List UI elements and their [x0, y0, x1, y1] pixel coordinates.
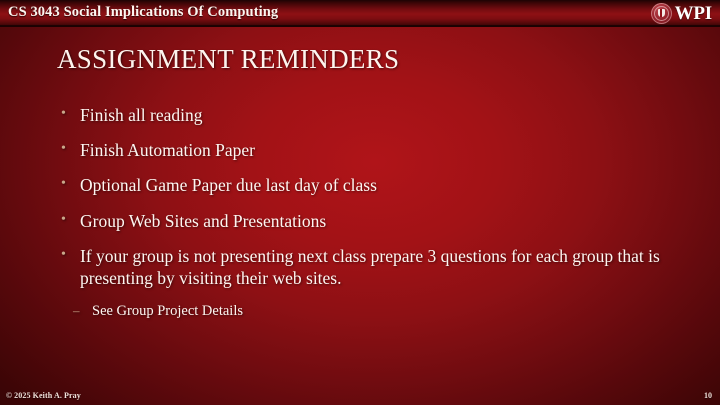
sub-list-item-label: See Group Project Details [92, 303, 243, 319]
dash-marker-icon: – [73, 302, 80, 320]
sub-list-item: – See Group Project Details [55, 302, 675, 320]
list-item: • Optional Game Paper due last day of cl… [55, 174, 675, 196]
bullet-marker-icon: • [61, 174, 66, 194]
list-item: • Finish all reading [55, 104, 675, 126]
list-item-label: Group Web Sites and Presentations [80, 211, 326, 231]
shield-icon [658, 9, 665, 17]
wpi-wordmark: WPI [675, 4, 712, 23]
bullet-marker-icon: • [61, 210, 66, 230]
page-title: ASSIGNMENT REMINDERS [57, 44, 399, 75]
list-item-label: Finish all reading [80, 105, 202, 125]
bullet-marker-icon: • [61, 104, 66, 124]
footer-copyright: © 2025 Keith A. Pray [6, 391, 81, 400]
list-item: • Group Web Sites and Presentations [55, 210, 675, 232]
wpi-seal-icon [651, 3, 672, 24]
presentation-slide: CS 3043 Social Implications Of Computing… [0, 0, 720, 405]
slide-header-bar: CS 3043 Social Implications Of Computing… [0, 0, 720, 27]
list-item-label: Optional Game Paper due last day of clas… [80, 175, 377, 195]
list-item: • Finish Automation Paper [55, 139, 675, 161]
wpi-logo: WPI [651, 1, 712, 26]
list-item-label: If your group is not presenting next cla… [80, 246, 660, 288]
list-item-label: Finish Automation Paper [80, 140, 255, 160]
bullet-marker-icon: • [61, 139, 66, 159]
bullet-list: • Finish all reading • Finish Automation… [55, 104, 675, 321]
course-title: CS 3043 Social Implications Of Computing [8, 4, 278, 21]
list-item: • If your group is not presenting next c… [55, 245, 675, 289]
slide-page-number: 10 [704, 391, 712, 400]
bullet-marker-icon: • [61, 245, 66, 265]
